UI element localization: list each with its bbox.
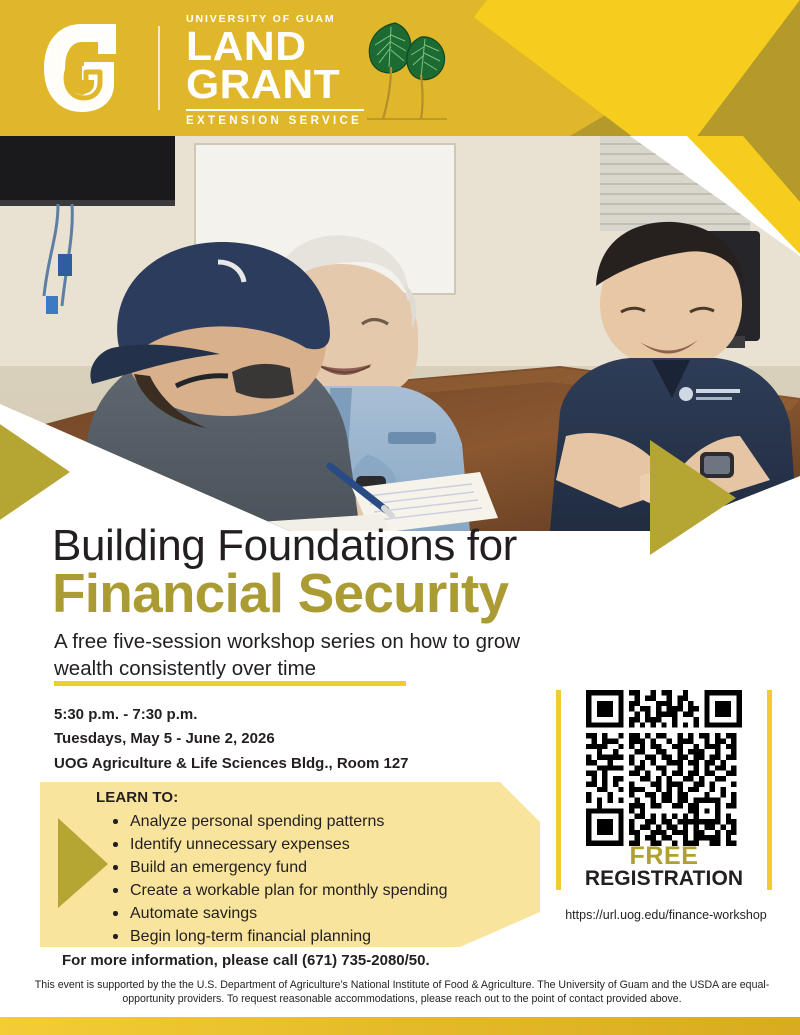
land-grant-wordmark: UNIVERSITY OF GUAM LAND GRANT EXTENSION …	[186, 9, 364, 126]
subtitle-underline	[54, 681, 406, 686]
logo-grant-line: GRANT	[186, 66, 371, 104]
learn-to-list: Analyze personal spending patterns Ident…	[104, 810, 448, 948]
qr-code-icon[interactable]	[578, 690, 750, 846]
flyer-page: UNIVERSITY OF GUAM LAND GRANT EXTENSION …	[0, 0, 800, 1035]
list-item: Build an emergency fund	[126, 856, 448, 879]
chevron-right-accent-left-icon	[0, 412, 124, 532]
event-location: UOG Agriculture & Life Sciences Bldg., R…	[54, 752, 524, 776]
uog-g-monogram-icon	[38, 20, 130, 116]
list-item: Automate savings	[126, 902, 448, 925]
chevron-right-accent-right-icon	[640, 440, 750, 555]
disclaimer-text: This event is supported by the the U.S. …	[26, 978, 778, 1007]
registration-panel[interactable]: FREE REGISTRATION	[556, 690, 772, 890]
more-information-line: For more information, please call (671) …	[62, 952, 430, 969]
logo-divider	[158, 26, 160, 110]
registration-label: REGISTRATION	[556, 868, 772, 889]
taro-leaf-icon	[361, 15, 451, 127]
free-label: FREE	[556, 844, 772, 869]
photo-yellow-diagonal-accent	[625, 136, 800, 261]
list-item: Begin long-term financial planning	[126, 925, 448, 948]
page-title-line2: Financial Security	[52, 566, 508, 621]
triangle-right-icon	[58, 818, 110, 908]
header-banner: UNIVERSITY OF GUAM LAND GRANT EXTENSION …	[0, 0, 800, 136]
list-item: Identify unnecessary expenses	[126, 833, 448, 856]
footer-gold-bar	[0, 1017, 800, 1035]
event-dates: Tuesdays, May 5 - June 2, 2026	[54, 727, 524, 751]
learn-to-heading: LEARN TO:	[96, 789, 178, 806]
uog-land-grant-logo: UNIVERSITY OF GUAM LAND GRANT EXTENSION …	[0, 0, 560, 136]
page-subtitle: A free five-session workshop series on h…	[54, 628, 524, 682]
event-details: 5:30 p.m. - 7:30 p.m. Tuesdays, May 5 - …	[54, 703, 524, 776]
logo-rule	[186, 109, 364, 111]
event-time: 5:30 p.m. - 7:30 p.m.	[54, 703, 524, 727]
registration-url[interactable]: https://url.uog.edu/finance-workshop	[536, 908, 796, 922]
list-item: Create a workable plan for monthly spend…	[126, 879, 448, 902]
list-item: Analyze personal spending patterns	[126, 810, 448, 833]
logo-extension-line: EXTENSION SERVICE	[186, 115, 364, 127]
